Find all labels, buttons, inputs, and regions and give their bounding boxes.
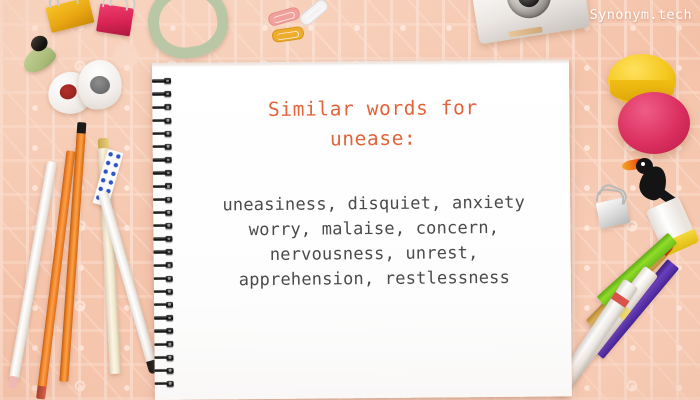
spiral-ring bbox=[153, 223, 175, 229]
notepad-content-area: Similar words for unease: uneasiness, di… bbox=[190, 62, 558, 399]
spiral-ring-highlight bbox=[167, 264, 170, 267]
spiral-ring bbox=[152, 104, 174, 110]
toucan-head-icon bbox=[636, 158, 653, 174]
binder-clip-pink-icon bbox=[96, 4, 134, 37]
spiral-ring bbox=[154, 315, 176, 321]
spiral-ring bbox=[154, 328, 176, 334]
synonym-line: apprehension, restlessness bbox=[192, 265, 557, 293]
spiral-ring-highlight bbox=[167, 277, 170, 280]
spiral-ring bbox=[152, 117, 174, 123]
synonym-line: worry, malaise, concern, bbox=[191, 215, 556, 243]
toucan-eye-icon bbox=[641, 162, 645, 166]
spiral-ring bbox=[154, 249, 176, 255]
spiral-ring-highlight bbox=[167, 237, 170, 240]
spiral-ring bbox=[153, 144, 175, 150]
macaron-pink-icon bbox=[618, 92, 690, 154]
spiral-ring bbox=[153, 236, 175, 242]
notepad-spiral-binding bbox=[150, 76, 183, 392]
spiral-ring-highlight bbox=[166, 132, 169, 135]
spiral-ring-highlight bbox=[166, 185, 169, 188]
spiral-ring-highlight bbox=[168, 343, 171, 346]
spiral-ring-highlight bbox=[167, 303, 170, 306]
spiral-ring-highlight bbox=[168, 382, 171, 385]
card-title-line-1: Similar words for bbox=[190, 92, 555, 125]
camera-lens-icon bbox=[504, 0, 554, 21]
spiral-ring-highlight bbox=[168, 356, 171, 359]
spiral-ring bbox=[155, 367, 177, 373]
card-title-headword: unease: bbox=[191, 122, 556, 155]
synonym-list: uneasiness, disquiet, anxiety worry, mal… bbox=[191, 190, 557, 293]
spiral-ring-highlight bbox=[168, 316, 171, 319]
spiral-ring-highlight bbox=[166, 158, 169, 161]
spiral-ring bbox=[154, 262, 176, 268]
spiral-ring-highlight bbox=[166, 172, 169, 175]
brand-logo: Synonym.tech bbox=[590, 7, 692, 23]
spiral-ring-highlight bbox=[167, 224, 170, 227]
spiral-ring bbox=[154, 275, 176, 281]
spiral-ring bbox=[152, 130, 174, 136]
screenshot-root: Similar words for unease: uneasiness, di… bbox=[0, 0, 700, 400]
spiral-ring bbox=[154, 341, 176, 347]
spiral-ring bbox=[153, 157, 175, 163]
spiral-ring bbox=[152, 78, 174, 84]
spiral-ring-highlight bbox=[166, 145, 169, 148]
notepad-page: Similar words for unease: uneasiness, di… bbox=[152, 62, 572, 400]
spiral-ring-highlight bbox=[166, 93, 169, 96]
spiral-ring-highlight bbox=[168, 330, 171, 333]
spiral-ring-highlight bbox=[167, 198, 170, 201]
spiral-ring-highlight bbox=[166, 106, 169, 109]
spiral-ring-highlight bbox=[166, 119, 169, 122]
spiral-ring bbox=[153, 170, 175, 176]
synonym-line: nervousness, unrest, bbox=[192, 240, 557, 268]
synonym-line: uneasiness, disquiet, anxiety bbox=[191, 190, 556, 218]
spiral-ring-highlight bbox=[167, 290, 170, 293]
spiral-ring bbox=[153, 196, 175, 202]
spiral-ring-highlight bbox=[166, 79, 169, 82]
spiral-ring bbox=[153, 209, 175, 215]
spiral-ring bbox=[153, 183, 175, 189]
spiral-ring bbox=[155, 381, 177, 387]
spiral-ring bbox=[152, 91, 174, 97]
spiral-ring-highlight bbox=[168, 369, 171, 372]
spiral-ring bbox=[154, 354, 176, 360]
spiral-ring bbox=[154, 302, 176, 308]
spiral-ring bbox=[154, 288, 176, 294]
spiral-ring-highlight bbox=[167, 211, 170, 214]
card-title: Similar words for unease: bbox=[190, 92, 556, 155]
spiral-ring-highlight bbox=[167, 251, 170, 254]
